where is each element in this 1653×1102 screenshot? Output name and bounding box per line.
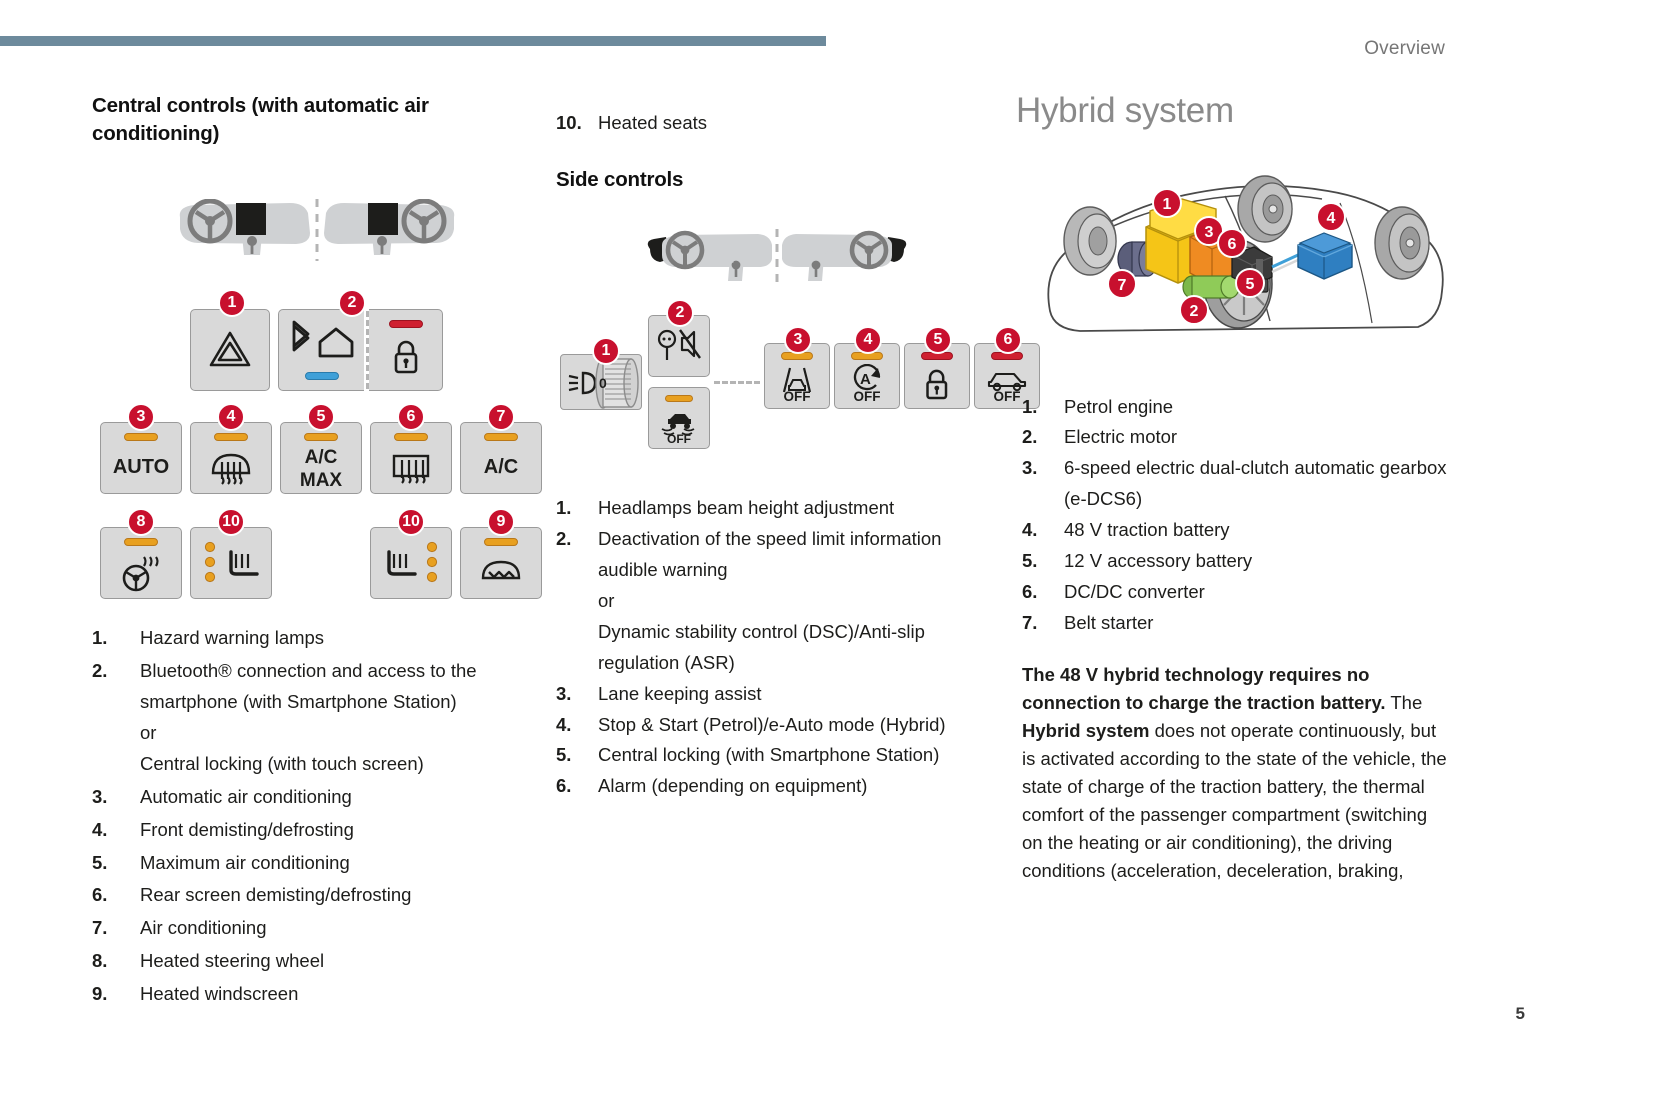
- list-item-text: Heated seats: [598, 112, 707, 133]
- list-item-text: Belt starter: [1064, 608, 1448, 639]
- right-column: Hybrid system: [1016, 92, 1448, 886]
- side-controls-dashboard-illustration: [640, 229, 988, 287]
- button-rear-demist[interactable]: [370, 422, 452, 494]
- list-item-number: 4.: [1022, 515, 1037, 546]
- central-controls-button-panel: 1 2: [92, 279, 522, 609]
- paragraph-bold-term: Hybrid system: [1022, 720, 1150, 741]
- button-label-auto: AUTO: [101, 456, 181, 479]
- list-item-number: 6.: [92, 880, 107, 911]
- list-item: 6. Alarm (depending on equipment): [556, 771, 988, 802]
- list-item-number: 5.: [556, 740, 571, 771]
- central-controls-list: 1. Hazard warning lamps 2. Bluetooth® co…: [92, 623, 522, 1010]
- button-front-demist[interactable]: [190, 422, 272, 494]
- list-item: 7. Air conditioning: [92, 913, 522, 944]
- list-item-text-alt: or: [598, 586, 988, 617]
- list-item-text: Central locking (with Smartphone Station…: [598, 740, 988, 771]
- list-item: 1. Hazard warning lamps: [92, 623, 522, 654]
- side-controls-button-panel: 0 1 2: [556, 301, 988, 471]
- list-item: 3. Lane keeping assist: [556, 679, 988, 710]
- list-item: 1. Petrol engine: [1022, 392, 1448, 423]
- list-item-number: 6.: [556, 771, 571, 802]
- svg-text:A: A: [860, 371, 871, 388]
- button-heated-steering-wheel[interactable]: [100, 527, 182, 599]
- svg-text:0: 0: [599, 375, 607, 391]
- list-item: 6. Rear screen demisting/defrosting: [92, 880, 522, 911]
- list-item: 3. 6-speed electric dual-clutch automati…: [1022, 453, 1448, 515]
- svg-text:5: 5: [1246, 276, 1255, 293]
- button-heated-windscreen[interactable]: [460, 527, 542, 599]
- list-item-text: Headlamps beam height adjustment: [598, 493, 988, 524]
- hybrid-powertrain-illustration: 1 2 3 4 5 6 7: [1010, 151, 1448, 386]
- list-item: 2. Bluetooth® connection and access to t…: [92, 656, 522, 780]
- list-item-text: DC/DC converter: [1064, 577, 1448, 608]
- list-item-text: Heated steering wheel: [140, 946, 522, 977]
- button-dsc-asr-off[interactable]: OFF: [648, 387, 710, 449]
- list-item-text: Automatic air conditioning: [140, 782, 522, 813]
- button-central-locking[interactable]: [369, 309, 443, 391]
- header-rule: [0, 36, 826, 46]
- button-auto-ac[interactable]: AUTO: [100, 422, 182, 494]
- button-label-ac: A/C: [461, 456, 541, 479]
- list-item: 5. 12 V accessory battery: [1022, 546, 1448, 577]
- list-item-text: Air conditioning: [140, 913, 522, 944]
- svg-text:3: 3: [1205, 224, 1214, 241]
- button-label-lka-off: OFF: [765, 389, 829, 404]
- paragraph-text-1: The: [1390, 692, 1422, 713]
- button-label-stopstart-off: OFF: [835, 389, 899, 404]
- hybrid-system-list: 1. Petrol engine 2. Electric motor 3. 6-…: [1022, 392, 1448, 639]
- list-item: 2. Deactivation of the speed limit infor…: [556, 524, 988, 678]
- list-item-text: Stop & Start (Petrol)/e-Auto mode (Hybri…: [598, 710, 988, 741]
- list-item: 4. 48 V traction battery: [1022, 515, 1448, 546]
- list-item-number: 3.: [556, 679, 571, 710]
- list-item-text: Deactivation of the speed limit informat…: [598, 524, 988, 586]
- list-item-number: 6.: [1022, 577, 1037, 608]
- list-item: 6. DC/DC converter: [1022, 577, 1448, 608]
- list-item-text: Hazard warning lamps: [140, 623, 522, 654]
- list-item-number: 5.: [92, 848, 107, 879]
- list-item-number: 4.: [92, 815, 107, 846]
- list-item-text-alt2: Central locking (with touch screen): [140, 749, 522, 780]
- svg-text:6: 6: [1228, 236, 1237, 253]
- list-item-text: Rear screen demisting/defrosting: [140, 880, 522, 911]
- paragraph-bold-intro: The 48 V hybrid technology requires no c…: [1022, 664, 1386, 713]
- button-bluetooth-home[interactable]: [278, 309, 364, 391]
- list-item-text-alt: or: [140, 718, 522, 749]
- list-item: 7. Belt starter: [1022, 608, 1448, 639]
- list-item: 5. Maximum air conditioning: [92, 848, 522, 879]
- list-item-text: 12 V accessory battery: [1064, 546, 1448, 577]
- side-controls-title: Side controls: [556, 166, 988, 194]
- list-item-number: 2.: [556, 524, 571, 555]
- side-controls-list: 1. Headlamps beam height adjustment 2. D…: [556, 493, 988, 802]
- middle-column: 10. Heated seats Side controls: [556, 92, 988, 802]
- list-item: 3. Automatic air conditioning: [92, 782, 522, 813]
- list-item-number: 1.: [1022, 392, 1037, 423]
- list-item-number: 3.: [1022, 453, 1037, 484]
- list-item-number: 10.: [556, 108, 582, 138]
- list-item-number: 5.: [1022, 546, 1037, 577]
- list-item-number: 2.: [92, 656, 107, 687]
- hybrid-system-paragraph: The 48 V hybrid technology requires no c…: [1022, 661, 1448, 886]
- svg-text:4: 4: [1327, 210, 1336, 227]
- svg-text:2: 2: [1190, 303, 1199, 320]
- header-section-label: Overview: [1364, 38, 1445, 60]
- button-label-ac-max: A/C MAX: [281, 447, 361, 492]
- list-item-text: Lane keeping assist: [598, 679, 988, 710]
- list-item-text: Bluetooth® connection and access to the …: [140, 656, 522, 718]
- list-item: 2. Electric motor: [1022, 422, 1448, 453]
- list-item-number: 9.: [92, 979, 107, 1010]
- list-item-text: Alarm (depending on equipment): [598, 771, 988, 802]
- manual-page: Overview Central controls (with automati…: [0, 0, 1653, 1102]
- list-item: 4. Stop & Start (Petrol)/e-Auto mode (Hy…: [556, 710, 988, 741]
- list-item-text: 48 V traction battery: [1064, 515, 1448, 546]
- list-item-number: 4.: [556, 710, 571, 741]
- paragraph-text-2: does not operate continuously, but is ac…: [1022, 720, 1447, 882]
- button-ac-max[interactable]: A/C MAX: [280, 422, 362, 494]
- list-item-text: Maximum air conditioning: [140, 848, 522, 879]
- list-item: 5. Central locking (with Smartphone Stat…: [556, 740, 988, 771]
- button-heated-seat-right[interactable]: [370, 527, 452, 599]
- list-item: 1. Headlamps beam height adjustment: [556, 493, 988, 524]
- list-item-number: 1.: [92, 623, 107, 654]
- button-hazard-warning[interactable]: [190, 309, 270, 391]
- list-item: 9. Heated windscreen: [92, 979, 522, 1010]
- list-item-text-alt2: Dynamic stability control (DSC)/Anti-sli…: [598, 617, 988, 679]
- list-item-text: Heated windscreen: [140, 979, 522, 1010]
- list-item-number: 7.: [92, 913, 107, 944]
- carryover-list-item: 10. Heated seats: [556, 108, 988, 138]
- list-item-text: Electric motor: [1064, 422, 1448, 453]
- left-column: Central controls (with automatic air con…: [92, 92, 522, 1012]
- list-item-number: 7.: [1022, 608, 1037, 639]
- list-item-number: 8.: [92, 946, 107, 977]
- page-title: Central controls (with automatic air con…: [92, 92, 522, 147]
- svg-text:7: 7: [1118, 277, 1127, 294]
- button-ac[interactable]: A/C: [460, 422, 542, 494]
- list-item-number: 3.: [92, 782, 107, 813]
- list-item-number: 1.: [556, 493, 571, 524]
- central-controls-dashboard-illustration: [172, 199, 522, 261]
- svg-text:1: 1: [1163, 196, 1172, 213]
- list-item: 4. Front demisting/defrosting: [92, 815, 522, 846]
- page-number: 5: [1516, 1004, 1525, 1024]
- list-item-text: 6-speed electric dual-clutch automatic g…: [1064, 453, 1448, 515]
- list-item: 8. Heated steering wheel: [92, 946, 522, 977]
- list-item-text: Petrol engine: [1064, 392, 1448, 423]
- button-heated-seat-left[interactable]: [190, 527, 272, 599]
- list-item-text: Front demisting/defrosting: [140, 815, 522, 846]
- hybrid-system-title: Hybrid system: [1016, 92, 1448, 131]
- list-item-number: 2.: [1022, 422, 1037, 453]
- button-label-dsc-off: OFF: [649, 432, 709, 446]
